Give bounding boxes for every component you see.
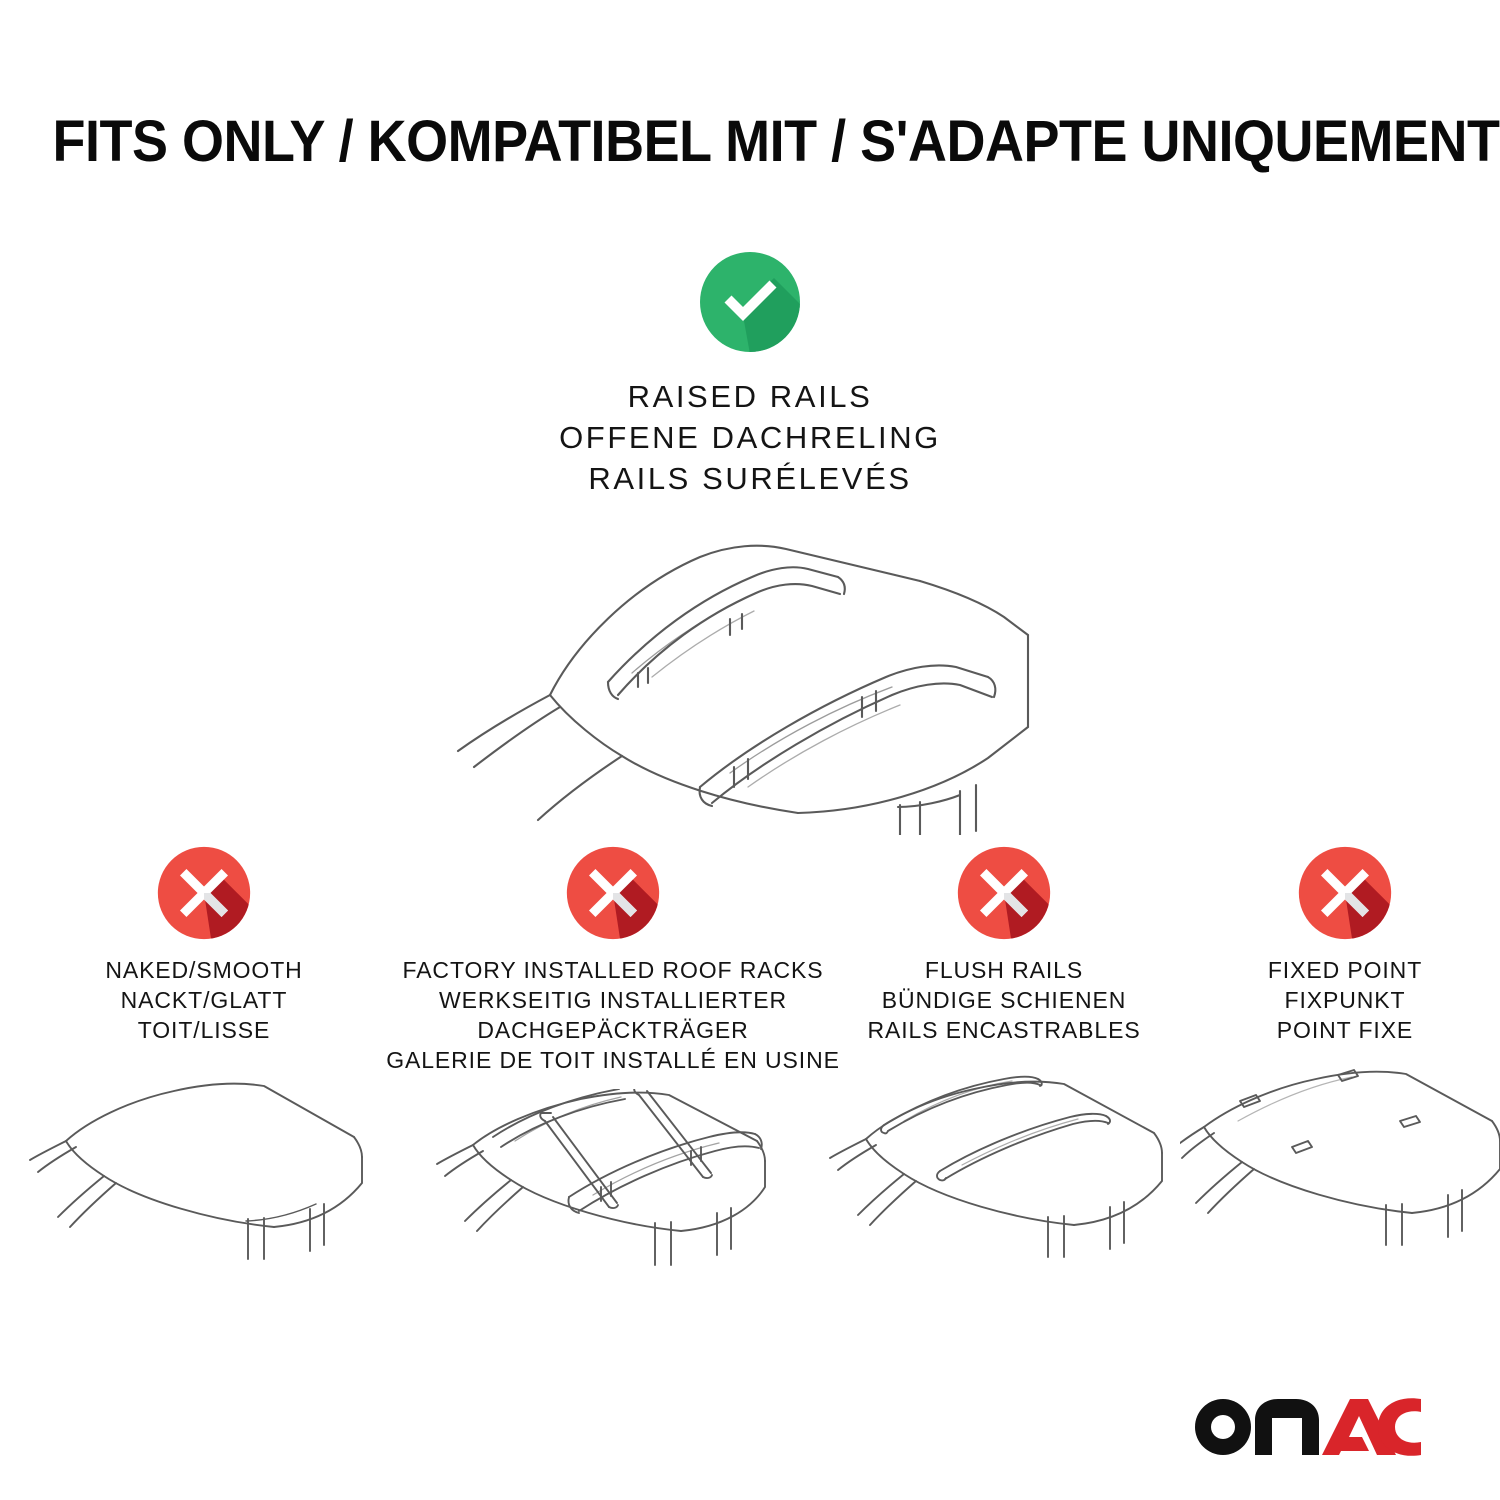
incompatible-item-fixed-point: FIXED POINT FIXPUNKT POINT FIXE (1190, 845, 1500, 1289)
factory-roof-racks-caption: FACTORY INSTALLED ROOF RACKS WERKSEITIG … (386, 955, 840, 1075)
green-check-circle-icon (698, 250, 802, 354)
compatible-icon-wrap (0, 250, 1500, 354)
caption-line: BÜNDIGE SCHIENEN (867, 985, 1140, 1015)
compatible-line-3: RAILS SURÉLEVÉS (0, 458, 1500, 499)
fitment-infographic-page: FITS ONLY / KOMPATIBEL MIT / S'ADAPTE UN… (0, 0, 1500, 1500)
naked-smooth-icon-wrap (156, 845, 252, 949)
flush-rails-icon-wrap (956, 845, 1052, 949)
omac-logo: OMAC (1192, 1396, 1422, 1458)
flush-rails-caption: FLUSH RAILS BÜNDIGE SCHIENEN RAILS ENCAS… (867, 955, 1140, 1045)
red-cross-circle-icon (565, 845, 661, 941)
car-roof-fixed-point-diagram (1180, 1059, 1500, 1289)
red-cross-circle-icon (156, 845, 252, 941)
caption-line: DACHGEPÄCKTRÄGER (386, 1015, 840, 1045)
caption-line: POINT FIXE (1268, 1015, 1422, 1045)
incompatible-item-flush-rails: FLUSH RAILS BÜNDIGE SCHIENEN RAILS ENCAS… (818, 845, 1190, 1289)
caption-line: GALERIE DE TOIT INSTALLÉ EN USINE (386, 1045, 840, 1075)
fixed-point-caption: FIXED POINT FIXPUNKT POINT FIXE (1268, 955, 1422, 1045)
car-roof-flush-rails-diagram (824, 1059, 1184, 1289)
red-cross-circle-icon (1297, 845, 1393, 941)
caption-line: FLUSH RAILS (867, 955, 1140, 985)
caption-line: RAILS ENCASTRABLES (867, 1015, 1140, 1045)
caption-line: FIXPUNKT (1268, 985, 1422, 1015)
caption-line: NACKT/GLATT (105, 985, 302, 1015)
compatible-section: RAISED RAILS OFFENE DACHRELING RAILS SUR… (0, 250, 1500, 835)
incompatible-item-naked-smooth: NAKED/SMOOTH NACKT/GLATT TOIT/LISSE (0, 845, 408, 1289)
incompatible-section: NAKED/SMOOTH NACKT/GLATT TOIT/LISSE (0, 845, 1500, 1289)
caption-line: NAKED/SMOOTH (105, 955, 302, 985)
car-roof-naked-smooth-diagram (24, 1059, 384, 1289)
red-cross-circle-icon (956, 845, 1052, 941)
caption-line: FIXED POINT (1268, 955, 1422, 985)
page-title: FITS ONLY / KOMPATIBEL MIT / S'ADAPTE UN… (53, 108, 1448, 175)
caption-line: TOIT/LISSE (105, 1015, 302, 1045)
caption-line: FACTORY INSTALLED ROOF RACKS (386, 955, 840, 985)
compatible-line-2: OFFENE DACHRELING (0, 417, 1500, 458)
naked-smooth-caption: NAKED/SMOOTH NACKT/GLATT TOIT/LISSE (105, 955, 302, 1045)
compatible-caption: RAISED RAILS OFFENE DACHRELING RAILS SUR… (0, 376, 1500, 499)
factory-roof-racks-icon-wrap (565, 845, 661, 949)
car-roof-raised-rails-diagram (0, 515, 1500, 835)
car-roof-factory-roof-racks-diagram (433, 1089, 793, 1289)
fixed-point-icon-wrap (1297, 845, 1393, 949)
caption-line: WERKSEITIG INSTALLIERTER (386, 985, 840, 1015)
compatible-line-1: RAISED RAILS (0, 376, 1500, 417)
incompatible-item-factory-roof-racks: FACTORY INSTALLED ROOF RACKS WERKSEITIG … (408, 845, 818, 1289)
